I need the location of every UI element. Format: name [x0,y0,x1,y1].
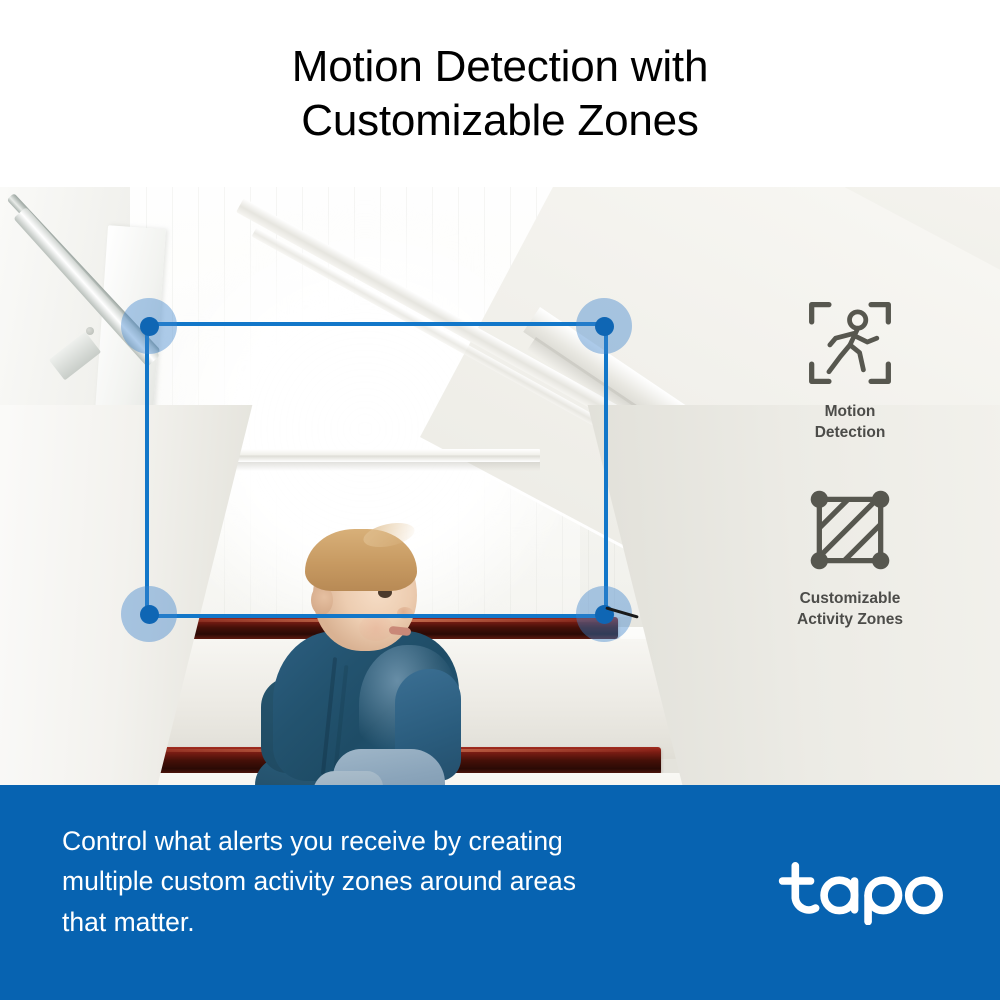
banner-line2: multiple custom activity zones around ar… [62,861,682,901]
banner-line3: that matter. [62,902,682,942]
camera-view-photo: Motion Detection [0,187,1000,785]
page-title: Motion Detection with Customizable Zones [120,40,880,147]
feature-motion-detection: Motion Detection [804,297,896,444]
banner-line1: Control what alerts you receive by creat… [62,826,563,856]
feature-customizable-zones: Customizable Activity Zones [797,484,903,631]
zone-handle-bottom-left[interactable] [121,586,177,642]
page-title-line1: Motion Detection with [292,42,708,91]
tapo-logo [778,859,948,925]
customizable-activity-zones-icon [804,484,896,576]
baby-foot [313,771,383,785]
bottom-banner: Control what alerts you receive by creat… [0,785,1000,1000]
page-title-line2: Customizable Zones [120,94,880,148]
baby-cheek [359,615,393,641]
feature-list: Motion Detection [700,297,1000,631]
tapo-wordmark-icon [778,859,948,925]
feature-motion-detection-label: Motion Detection [815,401,886,444]
promo-page: Motion Detection with Customizable Zones [0,0,1000,1000]
activity-zone-rectangle[interactable] [145,322,608,618]
motion-detection-icon [804,297,896,389]
header-section: Motion Detection with Customizable Zones [0,0,1000,187]
banner-description: Control what alerts you receive by creat… [62,821,682,942]
feature-customizable-zones-label: Customizable Activity Zones [797,588,903,631]
zone-handle-top-right[interactable] [576,298,632,354]
zone-handle-top-left[interactable] [121,298,177,354]
